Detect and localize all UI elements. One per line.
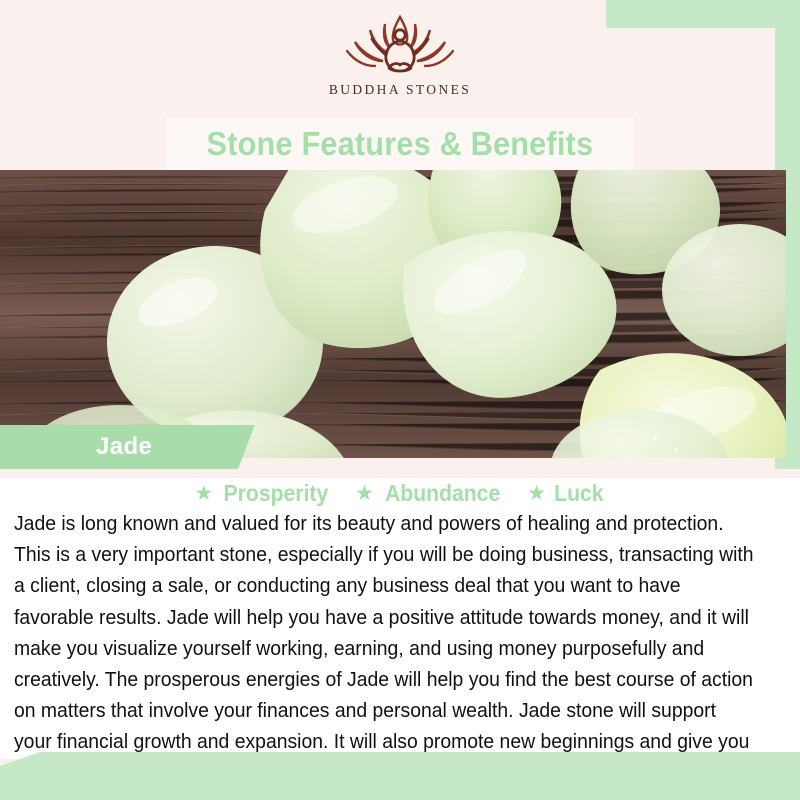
stone-name-label: Jade [96, 433, 152, 461]
brand-name: BUDDHA STONES [0, 82, 800, 98]
benefit-label: Luck [554, 480, 603, 507]
star-icon: ★ [355, 483, 374, 504]
title-banner: Stone Features & Benefits [166, 118, 634, 170]
stone-name-bar: Jade [0, 425, 255, 469]
star-icon: ★ [194, 483, 213, 504]
panel-top-strip [0, 469, 800, 478]
benefit-item: ★ Luck [527, 480, 606, 507]
stone-photo [0, 170, 786, 458]
page-title: Stone Features & Benefits [207, 125, 594, 163]
benefit-item: ★ Abundance [355, 480, 505, 507]
lotus-meditation-figure-icon [0, 14, 800, 80]
logo-block: BUDDHA STONES [0, 14, 800, 98]
benefit-item: ★ Prosperity [194, 480, 333, 507]
star-icon: ★ [527, 483, 546, 504]
benefits-row: ★ Prosperity ★ Abundance ★ Luck [0, 478, 800, 508]
benefit-label: Prosperity [224, 480, 329, 507]
brand-header: BUDDHA STONES [0, 0, 800, 118]
infographic-card: BUDDHA STONES Stone Features & Benefits [0, 0, 800, 800]
stone-description: Jade is long known and valued for its be… [14, 509, 754, 790]
benefit-label: Abundance [385, 480, 500, 507]
green-bottom-decoration [0, 752, 800, 800]
